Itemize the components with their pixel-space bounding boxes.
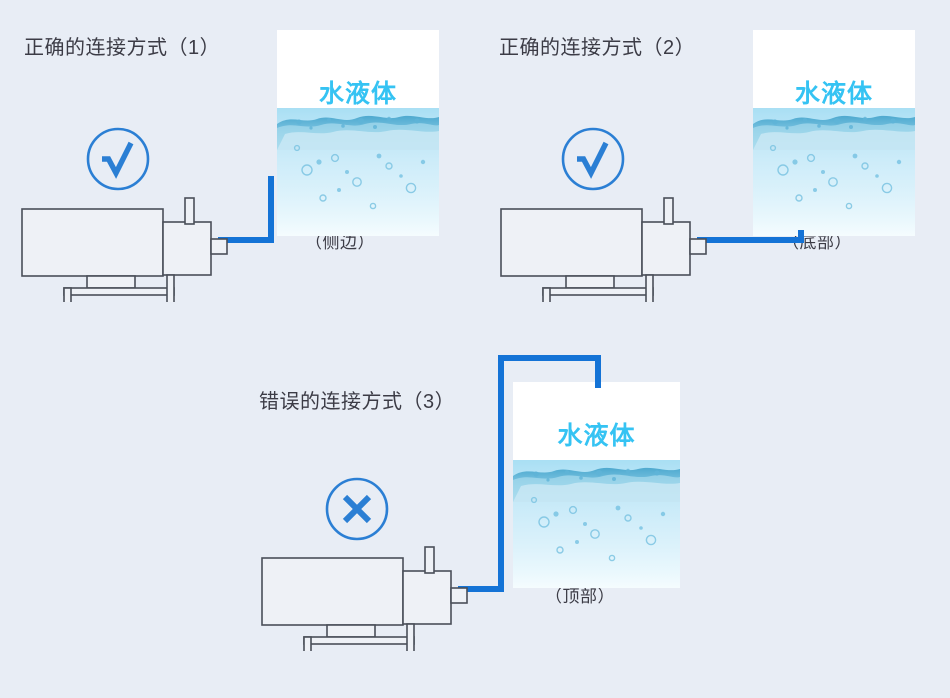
- pipe-segment-horizontal-top: [498, 355, 601, 361]
- pipe-segment-vertical: [268, 176, 274, 243]
- cross-circle-icon: [324, 476, 390, 542]
- pump-machine: [260, 546, 470, 656]
- pipe-segment-vertical-riser: [498, 355, 504, 592]
- tank-caption: （顶部）: [545, 588, 615, 605]
- panel-title: 错误的连接方式（3）: [259, 392, 455, 412]
- pump-machine: [499, 197, 709, 307]
- water-bubbles: [277, 30, 439, 236]
- panel-title: 正确的连接方式（1）: [24, 38, 220, 58]
- water-tank: 水液体: [753, 30, 915, 236]
- water-bubbles: [513, 382, 680, 588]
- check-circle-icon: [85, 126, 151, 192]
- pipe-segment-horizontal: [697, 237, 804, 243]
- water-tank: 水液体: [513, 382, 680, 588]
- tank-label: 水液体: [277, 82, 439, 107]
- water-tank: 水液体: [277, 30, 439, 236]
- tank-caption: （侧边）: [305, 234, 375, 251]
- check-circle-icon: [560, 126, 626, 192]
- tank-label: 水液体: [753, 82, 915, 107]
- tank-label: 水液体: [513, 424, 680, 449]
- panel-title: 正确的连接方式（2）: [499, 38, 695, 58]
- water-bubbles: [753, 30, 915, 236]
- diagram-canvas: 正确的连接方式（1） 水液体: [0, 0, 950, 698]
- pump-machine: [20, 197, 230, 307]
